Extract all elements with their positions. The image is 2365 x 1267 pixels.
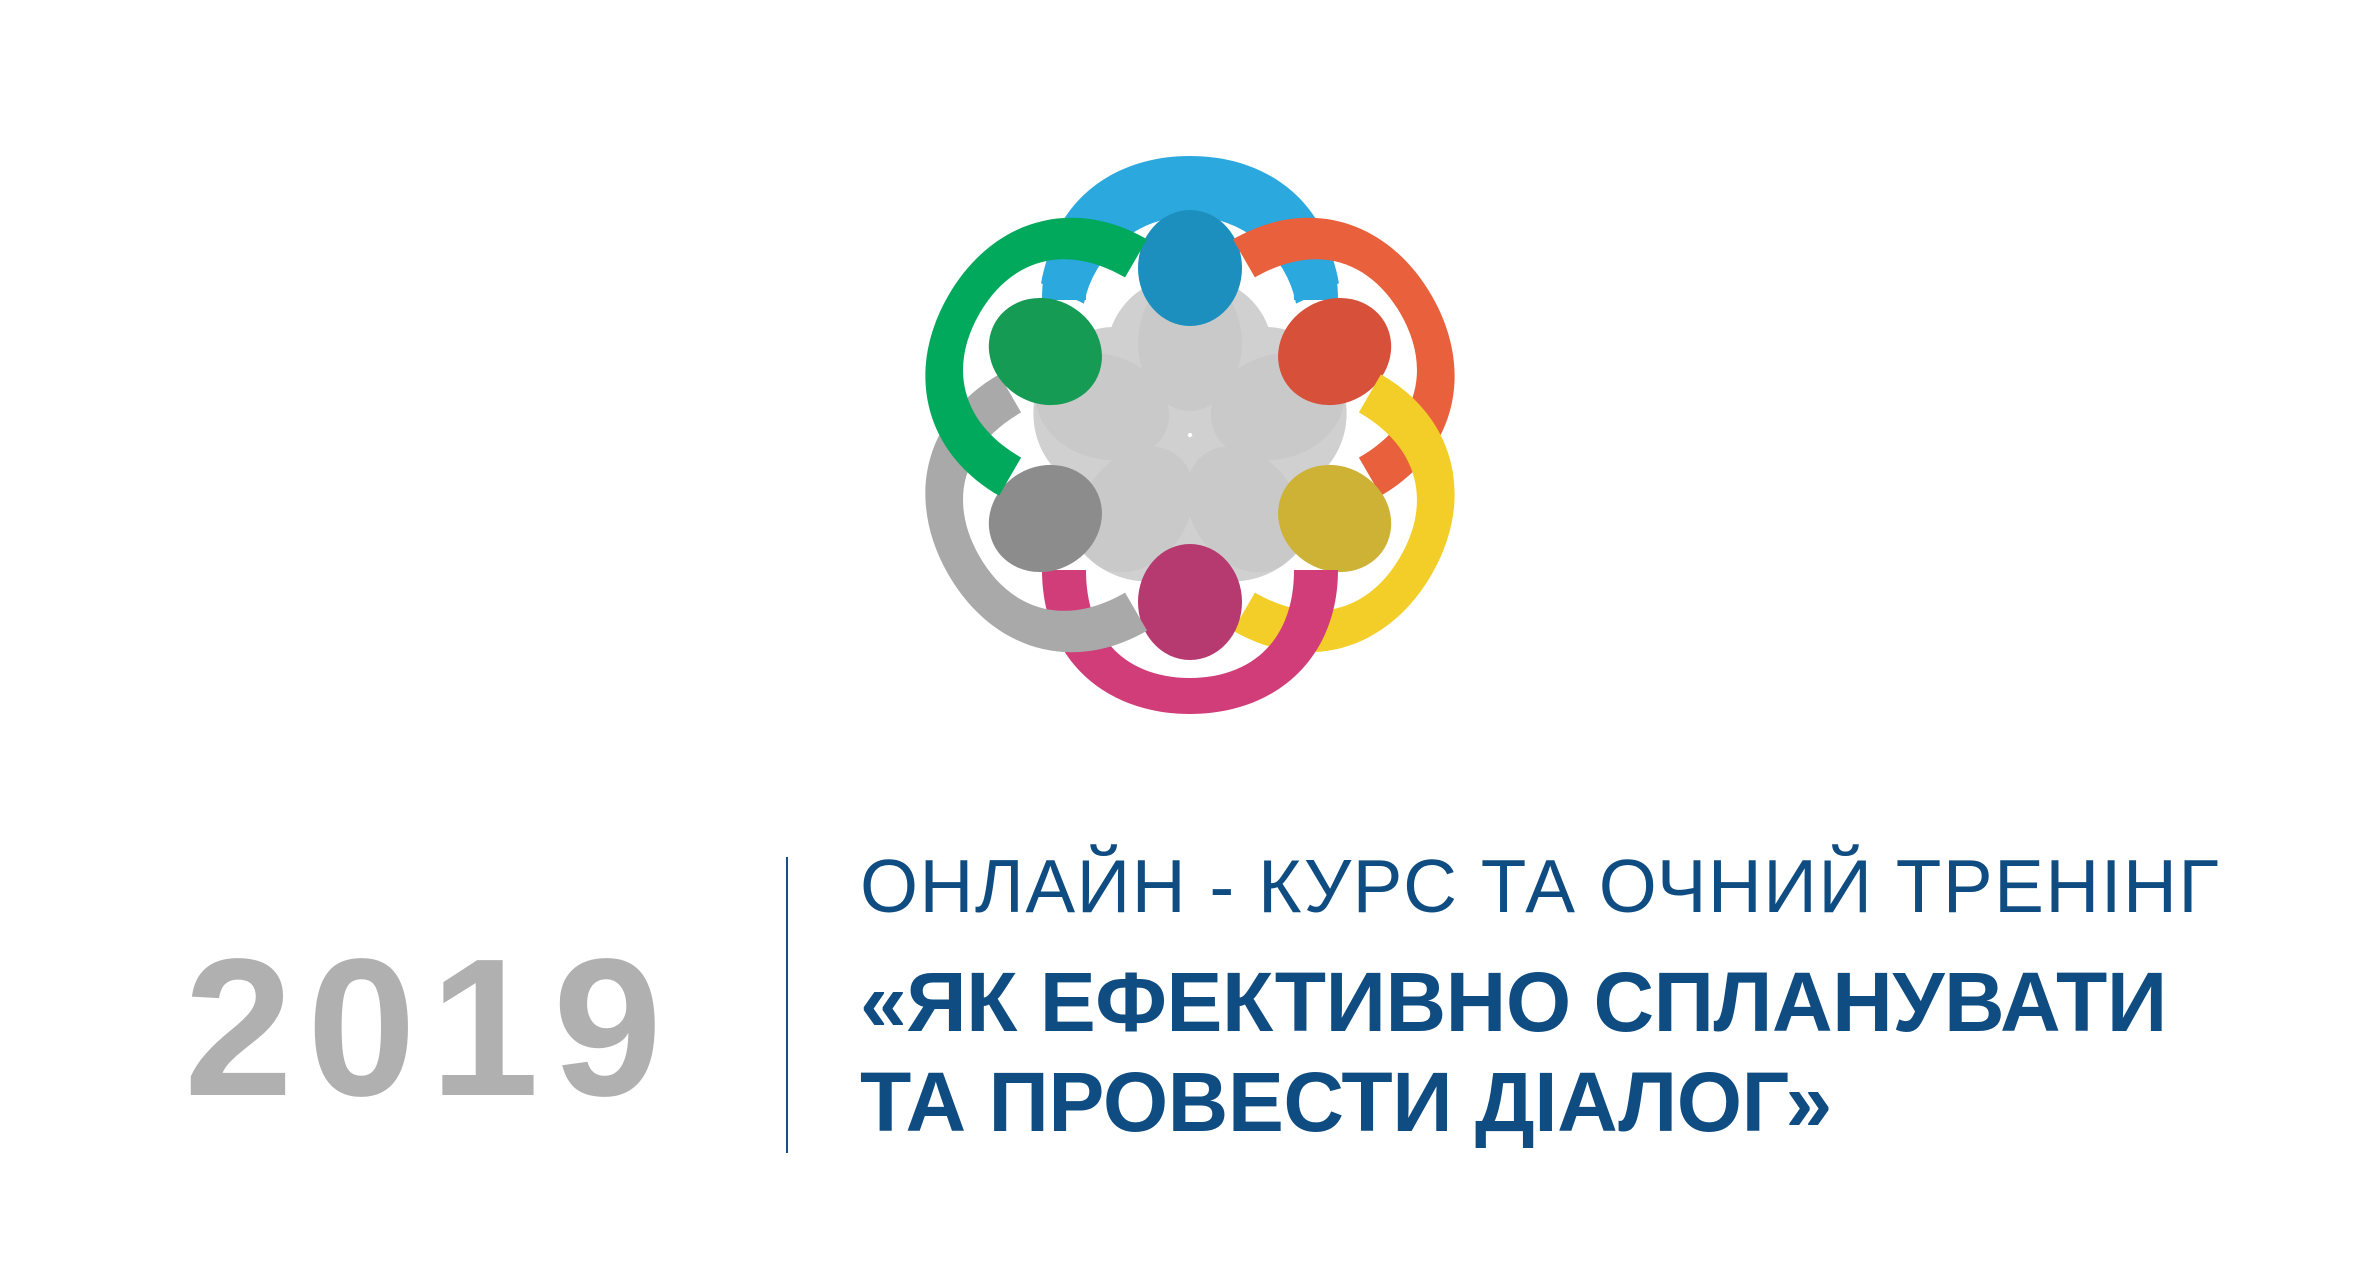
headline-line-2: ТА ПРОВЕСТИ ДІАЛОГ» bbox=[860, 1053, 2280, 1153]
year-label: 2019 bbox=[110, 930, 750, 1126]
year-block: 2019 bbox=[110, 930, 750, 1126]
poster-canvas: 2019 ОНЛАЙН - КУРС ТА ОЧНИЙ ТРЕНІНГ «ЯК … bbox=[0, 0, 2365, 1267]
dialogue-flower-logo bbox=[880, 70, 1500, 770]
course-kicker: ОНЛАЙН - КУРС ТА ОЧНИЙ ТРЕНІНГ bbox=[860, 848, 2273, 925]
vertical-divider bbox=[786, 857, 788, 1153]
headline-line-1: «ЯК ЕФЕКТИВНО СПЛАНУВАТИ bbox=[860, 953, 2280, 1053]
title-block: ОНЛАЙН - КУРС ТА ОЧНИЙ ТРЕНІНГ «ЯК ЕФЕКТ… bbox=[860, 848, 2280, 1153]
